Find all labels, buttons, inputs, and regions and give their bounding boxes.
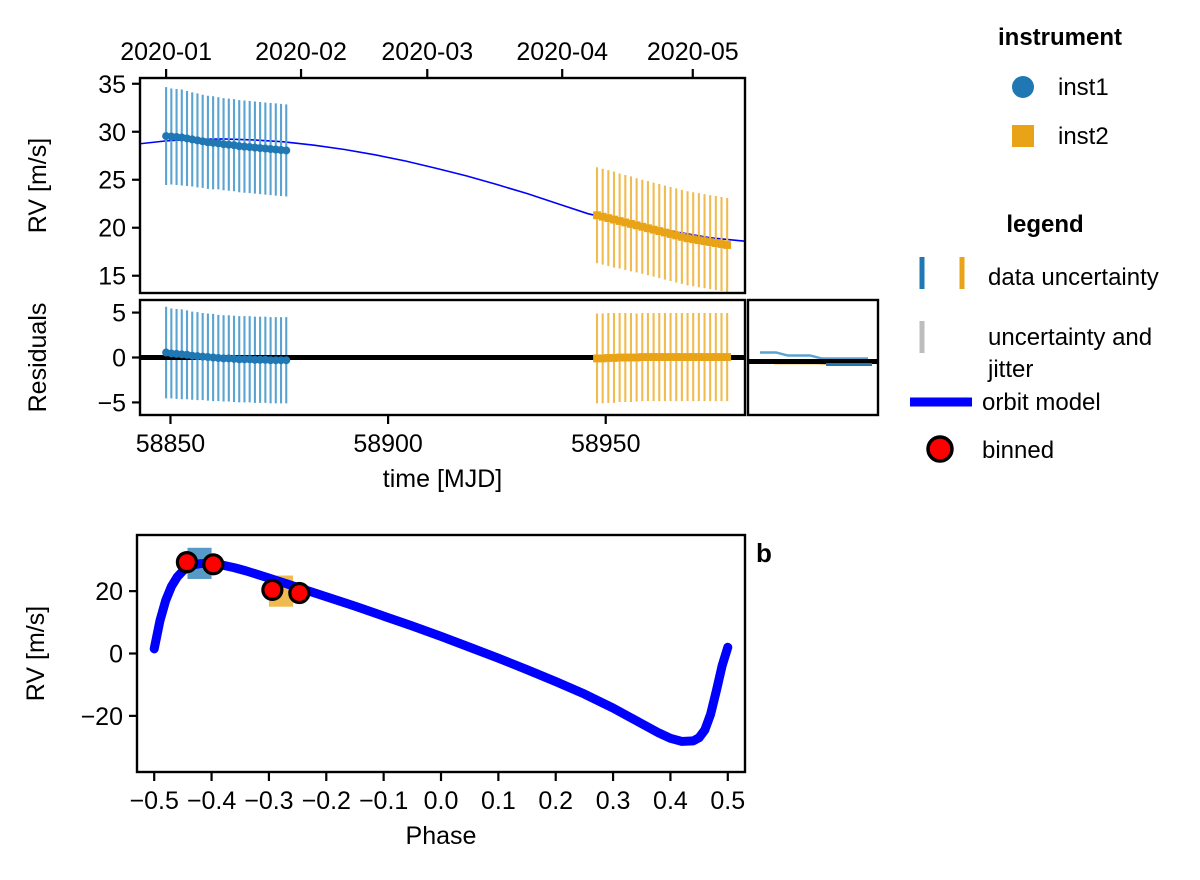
y-tick-label: 20 (95, 578, 123, 606)
binned-point (204, 555, 223, 574)
phase-y-axis-label: RV [m/s] (22, 606, 50, 701)
x-tick-label: 0.2 (538, 787, 573, 815)
x-tick-label: 0.4 (653, 787, 688, 815)
legend-item-label: inst1 (1058, 74, 1109, 101)
y-tick-label: 20 (98, 215, 126, 243)
data-point (723, 241, 731, 249)
legend-item-label: inst2 (1058, 123, 1109, 150)
residual-points-inst2 (593, 353, 731, 362)
rv-figure-svg: 1520253035RV [m/s]2020-012020-022020-032… (0, 0, 1200, 880)
x-tick-label: −0.4 (187, 787, 236, 815)
legend-item-label: binned (982, 437, 1054, 464)
y-tick-label: −5 (97, 389, 126, 417)
circle-marker-icon (1012, 76, 1034, 98)
y-tick-label: 25 (98, 167, 126, 195)
y-tick-label: 0 (112, 345, 126, 373)
y-tick-label: 35 (98, 71, 126, 99)
y-tick-label: 30 (98, 119, 126, 147)
data-point (723, 353, 731, 361)
y-tick-label: 0 (109, 641, 123, 669)
x-tick-label: −0.5 (130, 787, 179, 815)
legend-item-binned[interactable]: binned (928, 437, 1054, 464)
legend-instrument-title: instrument (998, 24, 1122, 51)
rv-y-axis-label: RV [m/s] (24, 138, 52, 233)
square-marker-icon (1012, 125, 1034, 147)
residuals-x-axis-label: time [MJD] (383, 465, 502, 493)
binned-point (290, 584, 309, 603)
y-tick-label: −20 (81, 703, 123, 731)
legend-item-inst1[interactable]: inst1 (1012, 74, 1109, 101)
legend-item-label: uncertainty and (988, 324, 1152, 351)
top-tick-label: 2020-02 (255, 38, 347, 66)
binned-point-icon (928, 437, 952, 461)
legend-item-inst2[interactable]: inst2 (1012, 123, 1109, 150)
phase-x-axis-label: Phase (406, 822, 477, 850)
top-tick-label: 2020-01 (120, 38, 212, 66)
data-point (282, 146, 290, 154)
x-tick-label: 0.1 (481, 787, 516, 815)
top-tick-label: 2020-04 (516, 38, 608, 66)
x-tick-label: 0.5 (710, 787, 745, 815)
figure-root: 1520253035RV [m/s]2020-012020-022020-032… (0, 0, 1200, 880)
legend-title: legend (1006, 211, 1083, 238)
x-tick-label: 58950 (571, 430, 641, 458)
top-tick-label: 2020-05 (647, 38, 739, 66)
x-tick-label: 0.0 (424, 787, 459, 815)
y-tick-label: 5 (112, 300, 126, 328)
legend-item-label: orbit model (982, 389, 1101, 416)
data-point (282, 356, 290, 364)
top-tick-label: 2020-03 (381, 38, 473, 66)
panel-label-b: b (756, 538, 772, 568)
x-tick-label: 58850 (136, 430, 206, 458)
x-tick-label: 0.3 (596, 787, 631, 815)
binned-point (177, 553, 196, 572)
y-tick-label: 15 (98, 263, 126, 291)
x-tick-label: −0.3 (244, 787, 293, 815)
x-tick-label: −0.1 (359, 787, 408, 815)
x-tick-label: −0.2 (302, 787, 351, 815)
legend-item-label: data uncertainty (988, 264, 1159, 291)
residuals-y-axis-label: Residuals (24, 303, 52, 413)
legend-item-label-line2: jitter (987, 356, 1033, 383)
binned-point (263, 580, 282, 599)
x-tick-label: 58900 (353, 430, 423, 458)
